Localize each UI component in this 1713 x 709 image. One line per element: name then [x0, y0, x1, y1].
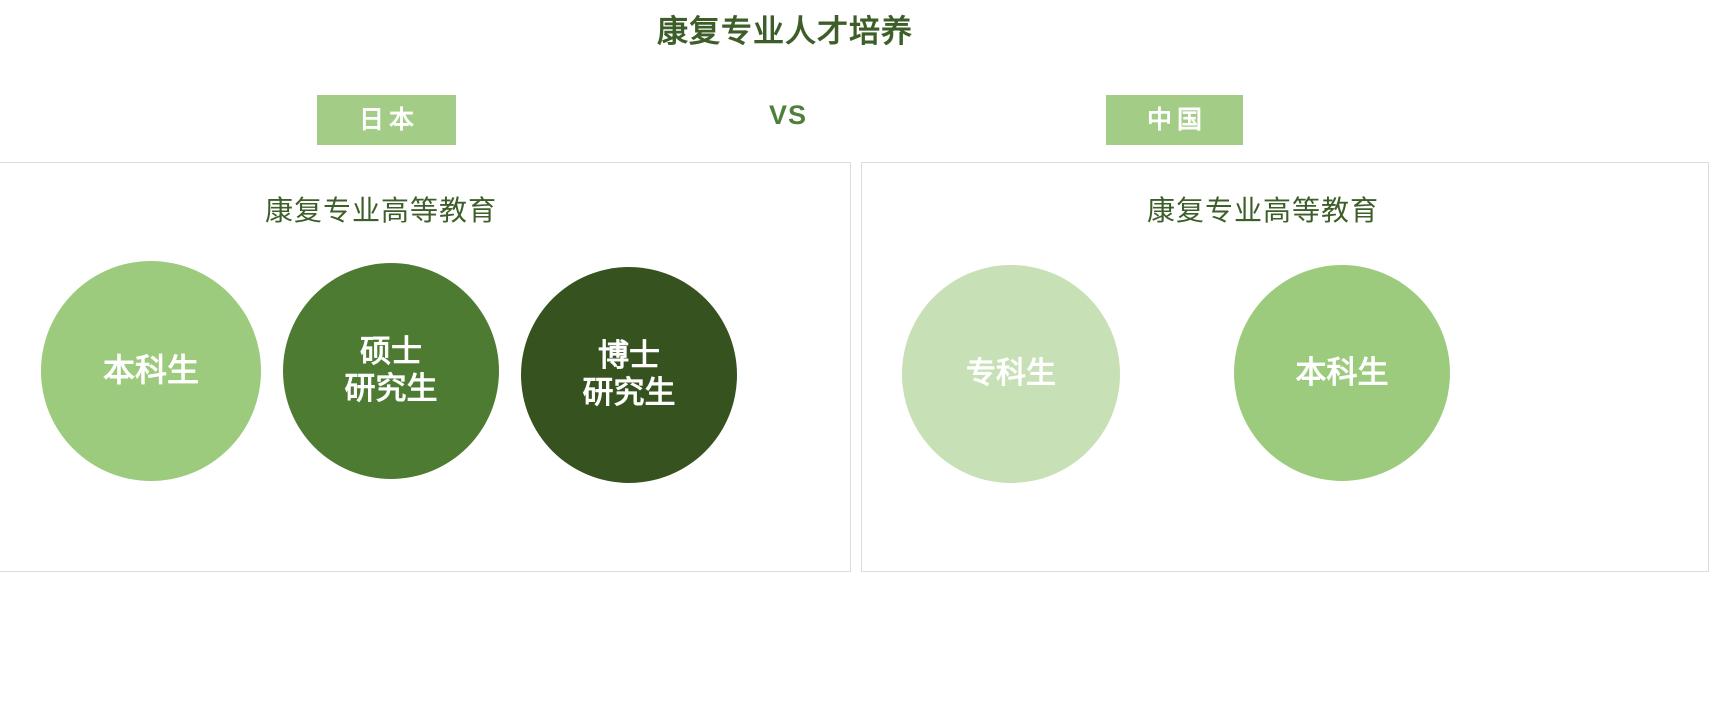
panel-japan-subtitle: 康复专业高等教育 — [0, 189, 806, 229]
level-label-line1: 本科生 — [1296, 355, 1389, 392]
level-label-line1: 本科生 — [103, 352, 199, 390]
panel-china-level-list: 专科生 本科生 — [862, 253, 1708, 493]
level-circle-master-jp: 硕士 研究生 — [283, 263, 499, 479]
panel-china: 康复专业高等教育 专科生 本科生 — [861, 162, 1709, 572]
level-label-line2: 研究生 — [345, 371, 438, 408]
level-label-line1: 专科生 — [966, 356, 1056, 391]
level-circle-associate-cn: 专科生 — [902, 265, 1120, 483]
level-circle-doctorate-jp: 博士 研究生 — [521, 267, 737, 483]
country-badge-japan: 日本 — [317, 95, 456, 145]
level-label-line1: 博士 — [598, 338, 660, 375]
panel-china-subtitle: 康复专业高等教育 — [840, 189, 1686, 229]
vs-separator-label: VS — [738, 95, 838, 135]
level-label-line1: 硕士 — [360, 334, 422, 371]
comparison-infographic: 康复专业人才培养 日本 VS 中国 康复专业高等教育 本科生 硕士 研究生 博士… — [0, 0, 1713, 709]
panel-japan: 康复专业高等教育 本科生 硕士 研究生 博士 研究生 — [0, 162, 851, 572]
level-circle-undergraduate-jp: 本科生 — [41, 261, 261, 481]
panel-japan-level-list: 本科生 硕士 研究生 博士 研究生 — [0, 253, 850, 493]
country-badge-china: 中国 — [1106, 95, 1243, 145]
page-title: 康复专业人才培养 — [0, 10, 1570, 54]
level-circle-undergraduate-cn: 本科生 — [1234, 265, 1450, 481]
level-label-line2: 研究生 — [583, 375, 676, 412]
